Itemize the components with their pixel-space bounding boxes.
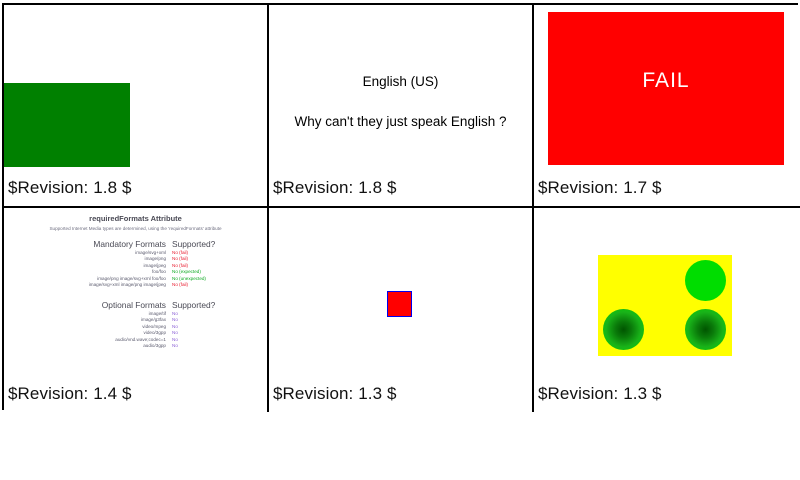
test-cell-yellow-dots: $Revision: 1.3 $ bbox=[534, 208, 800, 412]
language-question: Why can't they just speak English ? bbox=[269, 114, 532, 129]
fail-banner-text: FAIL bbox=[548, 69, 784, 93]
format-supported: No bbox=[172, 343, 230, 349]
render-stage-yellow bbox=[534, 208, 800, 373]
report-subtitle: Supported Internet Media types are deter… bbox=[4, 226, 267, 231]
render-stage-language: English (US) Why can't they just speak E… bbox=[269, 5, 532, 170]
revision-label-1: $Revision: 1.8 $ bbox=[8, 178, 132, 198]
revision-label-2: $Revision: 1.8 $ bbox=[273, 178, 397, 198]
revision-label-3: $Revision: 1.7 $ bbox=[538, 178, 662, 198]
required-formats-report: requiredFormats Attribute Supported Inte… bbox=[4, 208, 267, 373]
revision-label-4: $Revision: 1.4 $ bbox=[8, 384, 132, 404]
test-cell-green-rect: $Revision: 1.8 $ bbox=[4, 5, 269, 208]
table-row: image/svg+xml image/png image/jpeg No (f… bbox=[4, 282, 267, 288]
green-circle-bottom-left bbox=[603, 309, 644, 350]
table-row: audio/3gpp No bbox=[4, 343, 267, 349]
render-stage-fail: FAIL bbox=[534, 5, 800, 170]
report-title: requiredFormats Attribute bbox=[4, 214, 267, 223]
format-name: image/svg+xml image/png image/jpeg bbox=[41, 282, 172, 288]
mandatory-header-format: Mandatory Formats bbox=[41, 239, 172, 249]
mandatory-table-header: Mandatory Formats Supported? bbox=[4, 239, 267, 249]
render-stage-red-square bbox=[269, 208, 532, 373]
green-rectangle bbox=[4, 83, 130, 167]
revision-label-5: $Revision: 1.3 $ bbox=[273, 384, 397, 404]
render-stage-green bbox=[4, 5, 267, 170]
optional-header-supported: Supported? bbox=[172, 300, 230, 310]
format-name: audio/3gpp bbox=[41, 343, 172, 349]
red-square bbox=[387, 291, 412, 317]
test-cell-language: English (US) Why can't they just speak E… bbox=[269, 5, 534, 208]
optional-formats-table: Optional Formats Supported? image/tif No… bbox=[4, 300, 267, 349]
green-circle-top-right bbox=[685, 260, 726, 301]
yellow-rectangle bbox=[598, 255, 732, 356]
optional-header-format: Optional Formats bbox=[41, 300, 172, 310]
format-supported: No (fail) bbox=[172, 282, 230, 288]
page-canvas: $Revision: 1.8 $ English (US) Why can't … bbox=[0, 0, 800, 480]
test-cell-fail: FAIL $Revision: 1.7 $ bbox=[534, 5, 800, 208]
green-circle-bottom-right bbox=[685, 309, 726, 350]
mandatory-formats-table: Mandatory Formats Supported? image/svg+x… bbox=[4, 239, 267, 288]
results-grid: $Revision: 1.8 $ English (US) Why can't … bbox=[2, 3, 798, 410]
revision-label-6: $Revision: 1.3 $ bbox=[538, 384, 662, 404]
fail-banner: FAIL bbox=[548, 12, 784, 165]
mandatory-header-supported: Supported? bbox=[172, 239, 230, 249]
optional-table-header: Optional Formats Supported? bbox=[4, 300, 267, 310]
test-cell-red-square: $Revision: 1.3 $ bbox=[269, 208, 534, 412]
language-label: English (US) bbox=[269, 74, 532, 89]
test-cell-required-formats: requiredFormats Attribute Supported Inte… bbox=[4, 208, 269, 412]
